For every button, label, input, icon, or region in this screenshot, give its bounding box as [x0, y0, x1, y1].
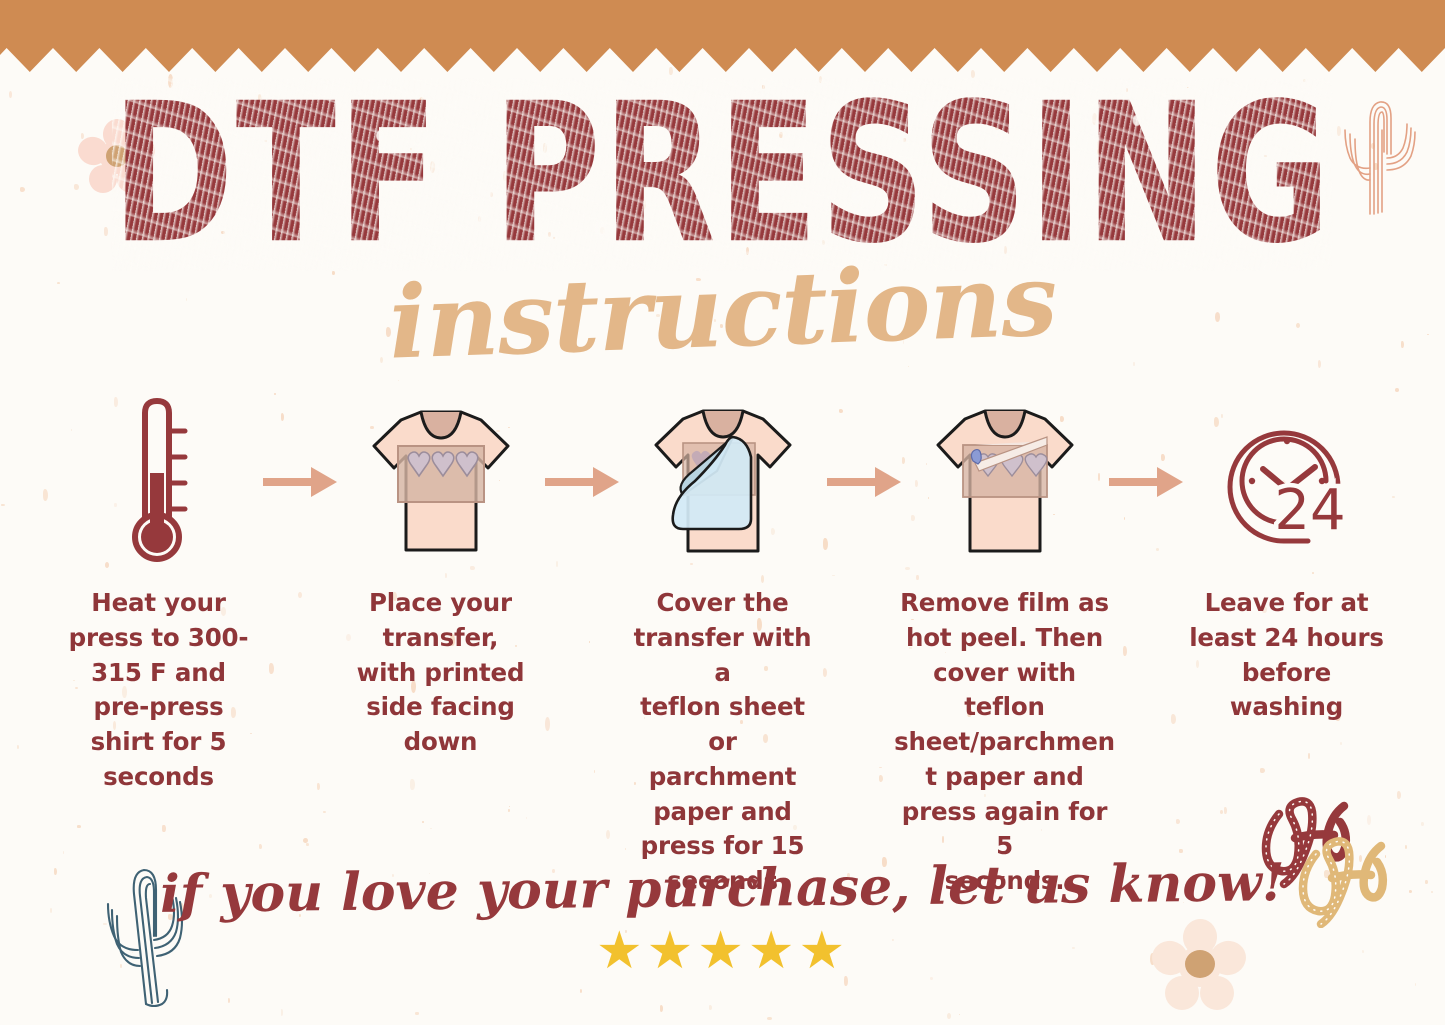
- arrow-right-icon: [1109, 465, 1183, 499]
- step-3: Cover the transfer with a teflon sheet o…: [625, 392, 821, 899]
- step-5-caption: Leave for at least 24 hours before washi…: [1189, 586, 1384, 725]
- star-5-icon: ★: [798, 925, 849, 977]
- steps-row: Heat your press to 300- 315 F and pre-pr…: [0, 392, 1445, 862]
- star-4-icon: ★: [748, 925, 799, 977]
- step-4: Remove film as hot peel. Then cover with…: [907, 392, 1103, 899]
- step-4-caption: Remove film as hot peel. Then cover with…: [894, 586, 1115, 899]
- step-2-caption: Place your transfer, with printed side f…: [357, 586, 525, 760]
- step-1-caption: Heat your press to 300- 315 F and pre-pr…: [69, 586, 249, 795]
- step-5-art: 24 24: [1189, 392, 1385, 572]
- subtitle-block: instructions: [0, 252, 1445, 370]
- star-1-icon: ★: [596, 925, 647, 977]
- footer-message: if you love your purchase, let us know!: [160, 852, 1285, 925]
- tshirt-covered-with-teflon-sheet-icon: [647, 401, 799, 563]
- step-4-art: [907, 392, 1103, 572]
- poster-canvas: DTF PRESSING instructions Heat y: [0, 0, 1445, 1025]
- step-2-art: [343, 392, 539, 572]
- footer-block: if you love your purchase, let us know! …: [0, 858, 1445, 977]
- thermometer-icon: [113, 395, 205, 570]
- star-rating: ★★★★★: [0, 925, 1445, 977]
- arrow-right-icon: [827, 465, 901, 499]
- tshirt-with-transfer-icon: [366, 402, 516, 562]
- arrow-1: [257, 392, 343, 572]
- arrow-right-icon: [545, 465, 619, 499]
- page-title: DTF PRESSING: [112, 78, 1333, 271]
- top-band: [0, 0, 1445, 48]
- step-3-caption: Cover the transfer with a teflon sheet o…: [625, 586, 821, 899]
- star-2-icon: ★: [647, 925, 698, 977]
- step-2: Place your transfer, with printed side f…: [343, 392, 539, 760]
- page-subtitle: instructions: [387, 240, 1058, 381]
- step-5: 24 24 Leave for at least 24 hours before…: [1189, 392, 1385, 725]
- step-1: Heat your press to 300- 315 F and pre-pr…: [61, 392, 257, 795]
- clock-24-hours-icon: 24 24: [1212, 407, 1362, 557]
- star-3-icon: ★: [697, 925, 748, 977]
- arrow-3: [821, 392, 907, 572]
- step-3-art: [625, 392, 821, 572]
- arrow-4: [1103, 392, 1189, 572]
- title-block: DTF PRESSING: [0, 78, 1445, 236]
- arrow-2: [539, 392, 625, 572]
- clock-24-label: 24: [1274, 478, 1345, 543]
- step-1-art: [61, 392, 257, 572]
- arrow-right-icon: [263, 465, 337, 499]
- tshirt-peeling-film-icon: [929, 401, 1081, 563]
